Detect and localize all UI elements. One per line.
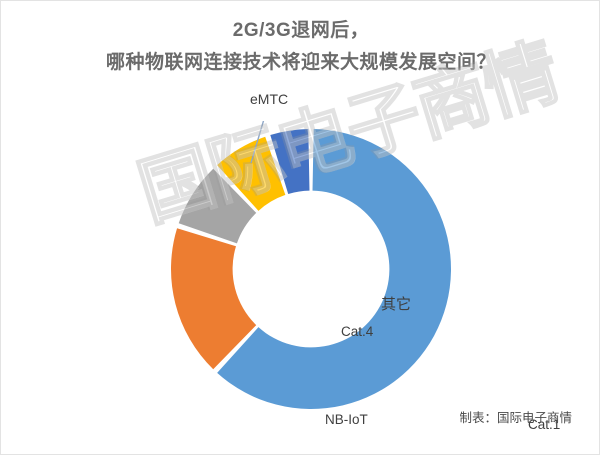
donut-slice-group <box>171 129 451 409</box>
slice-label-emtc: eMTC <box>250 91 288 107</box>
slice-label-nbiot: NB-IoT <box>325 412 368 427</box>
chart-canvas: 2G/3G退网后， 哪种物联网连接技术将迎来大规模发展空间？ Cat.1 NB-… <box>0 0 600 455</box>
donut-chart-svg <box>151 121 471 411</box>
chart-title: 2G/3G退网后， 哪种物联网连接技术将迎来大规模发展空间？ <box>1 15 600 79</box>
chart-title-line-1: 2G/3G退网后， <box>1 15 600 47</box>
chart-credit: 制表：国际电子商情 <box>459 407 572 426</box>
chart-title-line-2: 哪种物联网连接技术将迎来大规模发展空间？ <box>1 47 600 79</box>
donut-chart: Cat.1 NB-IoT Cat.4 其它 <box>151 121 471 411</box>
